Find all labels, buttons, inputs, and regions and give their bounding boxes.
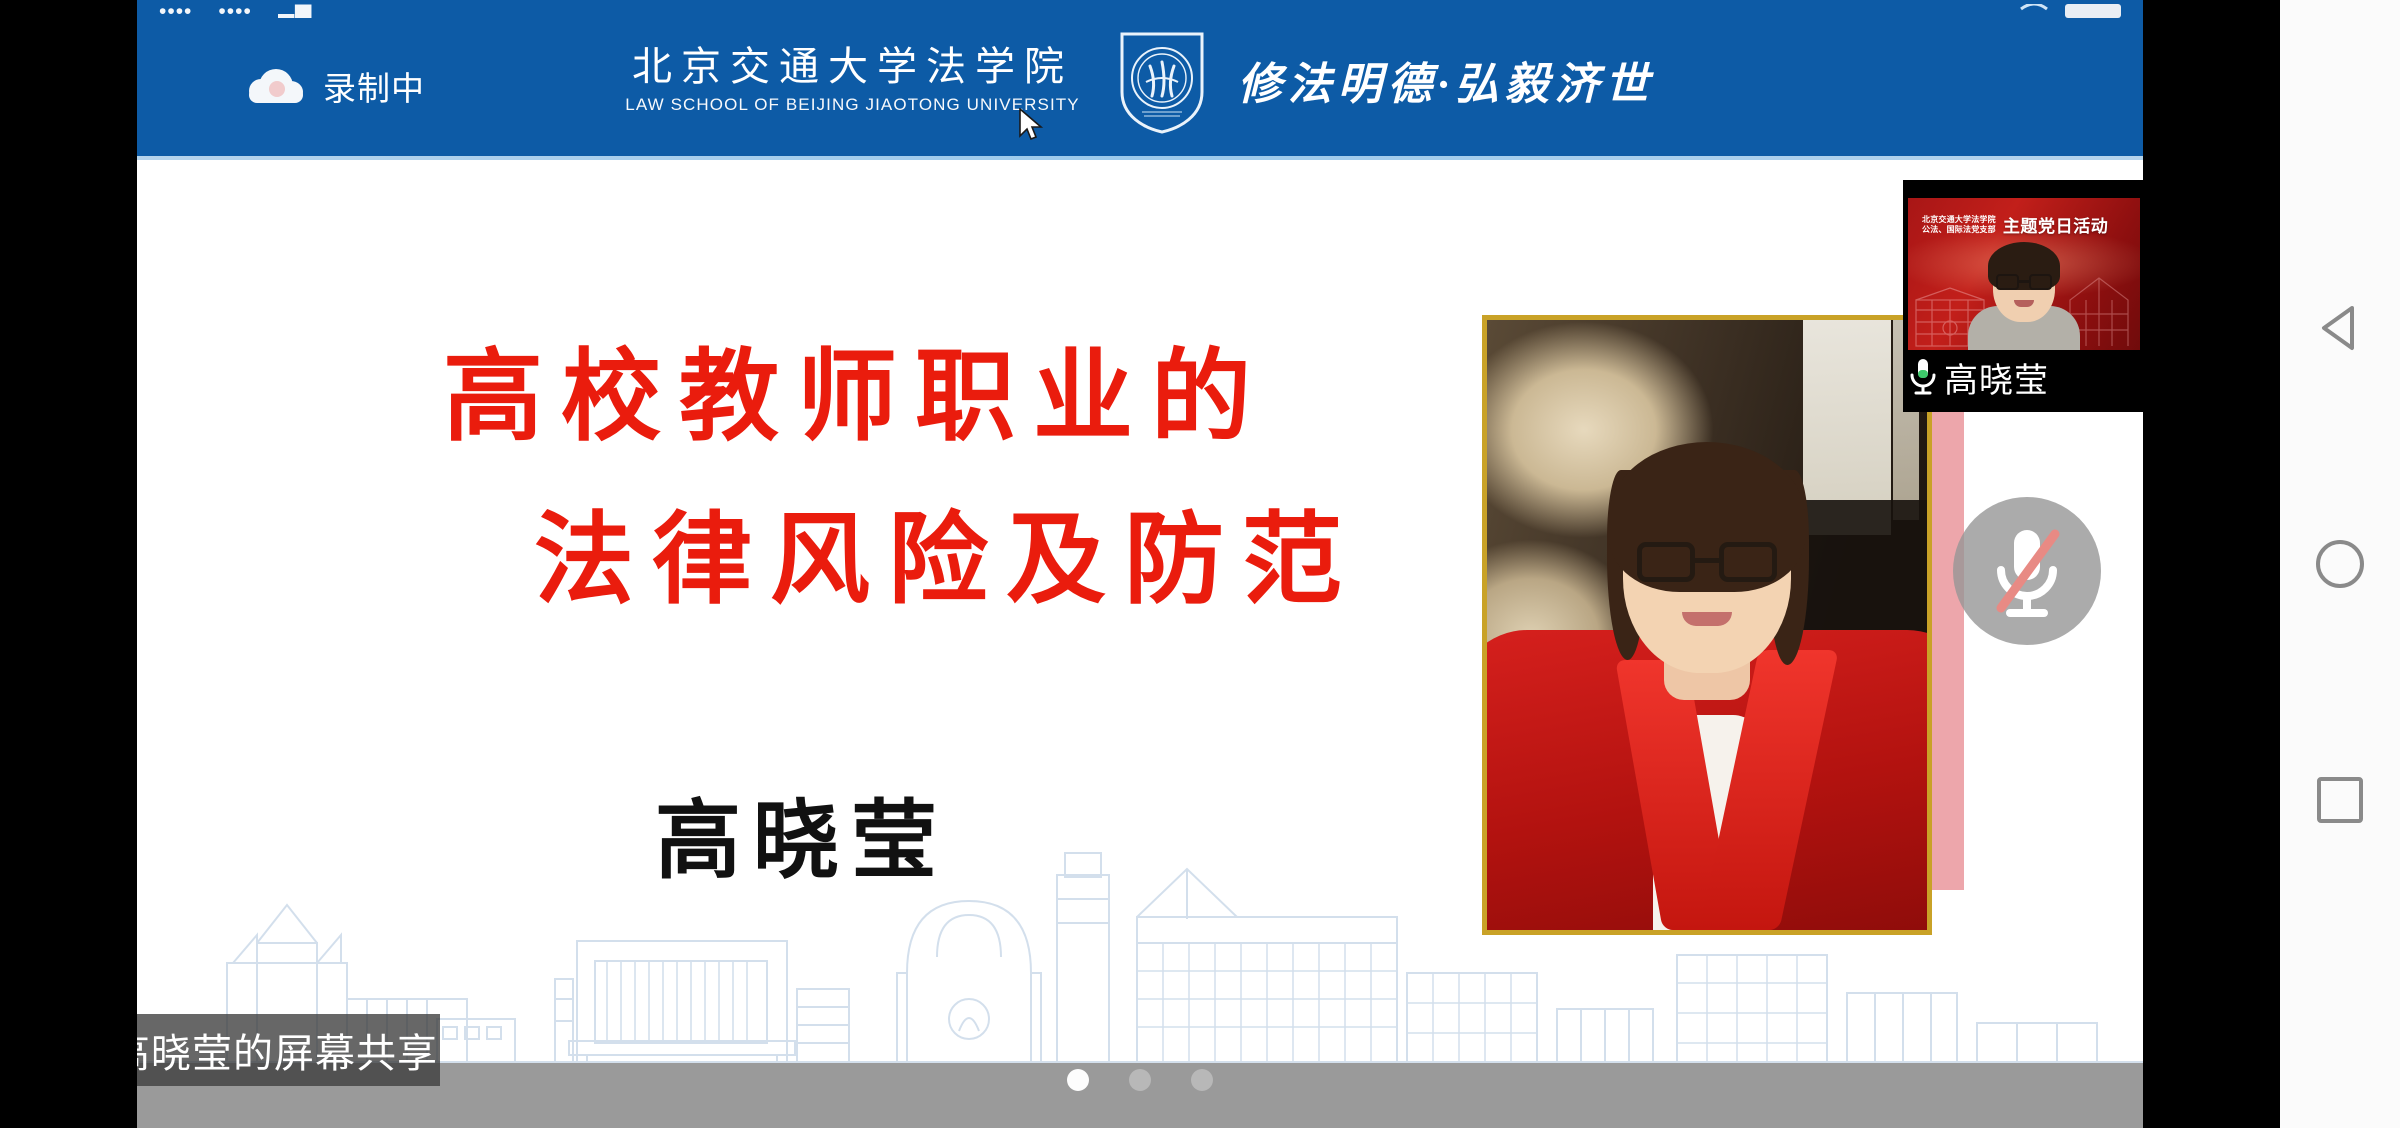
slide-title-line1: 高校教师职业的 [137,330,1557,465]
status-carrier-right: •••• [218,4,251,18]
participant-glasses [1996,274,2052,292]
recents-square-icon [2317,777,2363,823]
school-name-block: 北京交通大学法学院 LAW SCHOOL OF BEIJING JIAOTONG… [625,45,1085,115]
school-name-en: LAW SCHOOL OF BEIJING JIAOTONG UNIVERSIT… [625,95,1079,115]
university-shield-icon [1116,26,1208,134]
mute-toggle-button[interactable] [1953,497,2101,645]
signal-icon: ▃▆ [278,4,312,18]
status-carrier-left: •••• [159,4,192,18]
recording-indicator: 录制中 [249,62,425,110]
nav-back-button[interactable] [2309,297,2371,359]
battery-icon [2065,4,2121,18]
home-circle-icon [2316,540,2364,588]
virtual-bg-event-title: 主题党日活动 [2003,212,2109,237]
portrait-mouth [1682,612,1732,626]
meeting-app-viewport: 高校教师职业的 法律风险及防范 高晓莹 [0,0,2280,1128]
virtual-bg-organization: 北京交通大学法学院 公法、国际法党支部 [1922,215,1996,235]
nav-home-button[interactable] [2309,533,2371,595]
cloud-recording-icon [249,69,303,103]
school-name-cn: 北京交通大学法学院 [625,45,1079,89]
school-motto: 修法明德·弘毅济世 [1238,48,1655,112]
virtual-bg-org-line1: 北京交通大学法学院 [1922,215,1996,225]
nav-recents-button[interactable] [2309,769,2371,831]
slide-title-line2: 法律风险及防范 [137,493,1557,628]
school-branding: 北京交通大学法学院 LAW SCHOOL OF BEIJING JIAOTONG… [137,0,2143,160]
portrait-glasses [1637,542,1777,586]
participant-name: 高晓莹 [1944,353,2049,402]
app-header-banner: 北京交通大学法学院 LAW SCHOOL OF BEIJING JIAOTONG… [137,0,2143,160]
page-indicator[interactable] [137,1060,2143,1100]
slide-title: 高校教师职业的 法律风险及防范 [137,330,1557,628]
system-status-bar: •••• •••• ▃▆ [137,0,2143,18]
page-dot-2[interactable] [1129,1069,1151,1091]
wifi-icon [2019,4,2049,18]
microphone-icon [1908,358,1938,396]
virtual-bg-title-block: 北京交通大学法学院 公法、国际法党支部 主题党日活动 [1922,212,2108,237]
virtual-bg-org-line2: 公法、国际法党支部 [1922,225,1996,235]
microphone-muted-icon [1981,518,2073,624]
mouse-pointer-icon [1018,108,1044,142]
page-dot-3[interactable] [1191,1069,1213,1091]
android-navigation-bar [2280,0,2400,1128]
letterbox-right [2143,0,2280,1128]
back-triangle-icon [2312,300,2368,356]
phone-screen: 高校教师职业的 法律风险及防范 高晓莹 [0,0,2400,1128]
participant-video-thumbnail[interactable]: 北京交通大学法学院 公法、国际法党支部 主题党日活动 高晓莹 [1903,180,2143,412]
recording-label: 录制中 [323,62,425,110]
letterbox-left [0,0,137,1128]
page-dot-1[interactable] [1067,1069,1089,1091]
participant-figure [1965,242,2083,350]
speaker-portrait [1482,315,1962,795]
shared-slide: 高校教师职业的 法律风险及防范 高晓莹 [137,160,2143,1063]
participant-video-feed: 北京交通大学法学院 公法、国际法党支部 主题党日活动 [1908,198,2140,350]
participant-name-label: 高晓莹 [1908,350,2140,404]
